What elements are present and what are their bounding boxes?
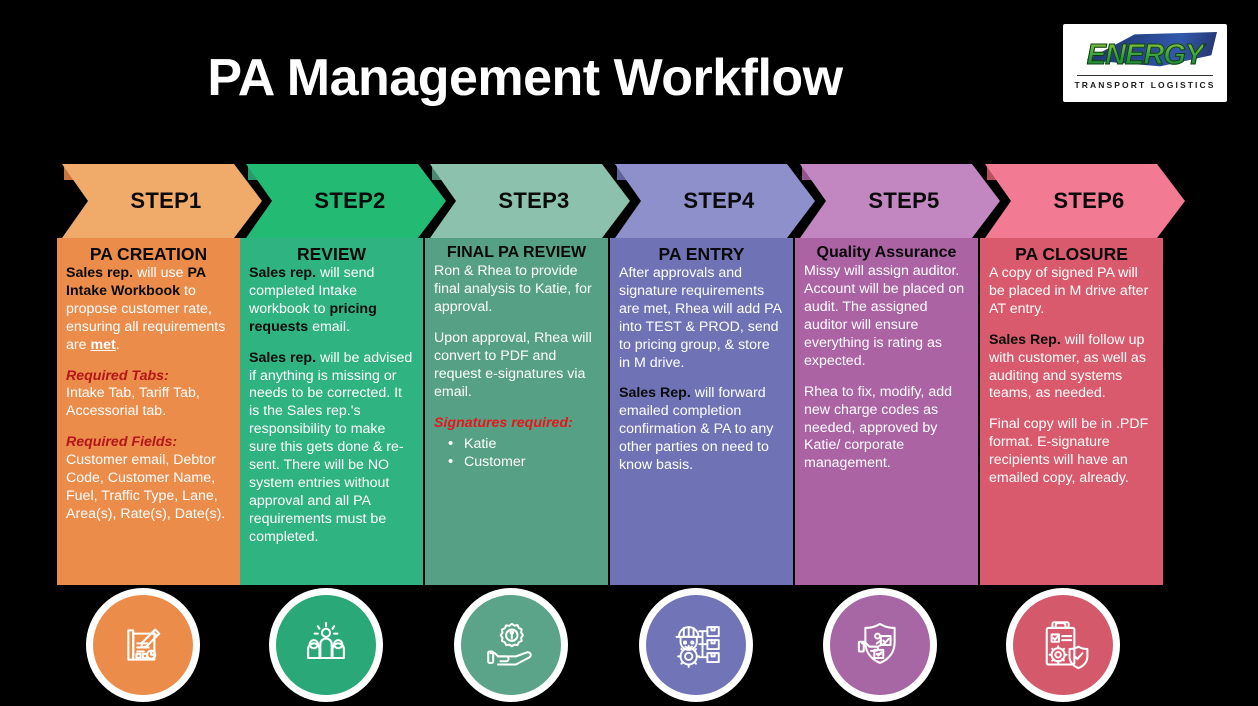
step-body-text: A copy of signed PA will be placed in M … — [989, 265, 1154, 488]
paragraph: Sales Rep. will follow up with customer,… — [989, 332, 1154, 404]
clipboard-gear-shield-icon — [1013, 595, 1113, 695]
step-icon-badge-6 — [1006, 588, 1120, 702]
text-run: Sales rep. — [66, 265, 133, 281]
paragraph: Rhea to fix, modify, add new charge code… — [804, 384, 969, 473]
hand-gear-person-icon — [461, 595, 561, 695]
step-chevron-6[interactable]: STEP6 — [985, 164, 1185, 238]
text-run: Sales Rep. — [989, 332, 1061, 348]
step-panel-1: PA CREATIONSales rep. will use PA Intake… — [57, 238, 240, 585]
text-run: Sales Rep. — [619, 385, 691, 401]
step-title: PA CREATION — [66, 244, 231, 264]
paragraph: Intake Tab, Tariff Tab, Accessorial tab. — [66, 385, 231, 421]
workflow-canvas: PA Management Workflow ENERGY TRANSPORT … — [0, 0, 1258, 706]
paragraph: Final copy will be in .PDF format. E-sig… — [989, 416, 1154, 488]
step-icon-badge-4 — [639, 588, 753, 702]
document-pen-icon — [93, 595, 193, 695]
logo-divider — [1077, 75, 1213, 76]
paragraph: Sales Rep. will forward emailed completi… — [619, 385, 784, 474]
step-icon-badge-2 — [269, 588, 383, 702]
step-chevron-label: STEP1 — [130, 188, 201, 214]
step-body-text: After approvals and signature requiremen… — [619, 265, 784, 475]
paragraph: Sales rep. will use PA Intake Workbook t… — [66, 265, 231, 354]
step-chevron-3[interactable]: STEP3 — [430, 164, 630, 238]
paragraph: Sales rep. will be advised if anything i… — [249, 350, 414, 547]
step-body-text: Sales rep. will use PA Intake Workbook t… — [66, 265, 231, 524]
step-chevron-1[interactable]: STEP1 — [62, 164, 262, 238]
step-title: FINAL PA REVIEW — [434, 244, 599, 262]
people-group-icon — [276, 595, 376, 695]
step-title: REVIEW — [249, 244, 414, 264]
step-title: PA ENTRY — [619, 244, 784, 264]
step-chevron-label: STEP6 — [1053, 188, 1124, 214]
text-run: met — [90, 337, 115, 353]
step-body-text: Missy will assign auditor. Account will … — [804, 263, 969, 473]
text-run: Sales rep. — [249, 265, 316, 281]
step-title: PA CLOSURE — [989, 244, 1154, 264]
paragraph: Missy will assign auditor. Account will … — [804, 263, 969, 370]
text-run: email. — [308, 319, 350, 335]
step-body-text: Ron & Rhea to provide final analysis to … — [434, 263, 599, 471]
step-chevron-5[interactable]: STEP5 — [800, 164, 1000, 238]
step-chevron-label: STEP2 — [314, 188, 385, 214]
step-chevron-label: STEP5 — [868, 188, 939, 214]
red-subheading: Required Tabs: — [66, 368, 231, 386]
signature-list: KatieCustomer — [434, 435, 599, 472]
step-icon-badge-3 — [454, 588, 568, 702]
step-panel-2: REVIEWSales rep. will send completed Int… — [240, 238, 423, 585]
shield-check-hand-icon — [830, 595, 930, 695]
text-run: Sales rep. — [249, 350, 316, 366]
step-panel-5: Quality AssuranceMissy will assign audit… — [795, 238, 978, 585]
step-chevron-label: STEP4 — [683, 188, 754, 214]
step-icon-badge-5 — [823, 588, 937, 702]
step-panel-4: PA ENTRYAfter approvals and signature re… — [610, 238, 793, 585]
paragraph: A copy of signed PA will be placed in M … — [989, 265, 1154, 319]
list-item: Customer — [434, 453, 599, 471]
text-run: will be advised if anything is missing o… — [249, 350, 412, 545]
paragraph: Ron & Rhea to provide final analysis to … — [434, 263, 599, 317]
paragraph: Customer email, Debtor Code, Customer Na… — [66, 452, 231, 524]
step-panel-6: PA CLOSUREA copy of signed PA will be pl… — [980, 238, 1163, 585]
text-run: will use — [133, 265, 187, 281]
step-chevron-2[interactable]: STEP2 — [246, 164, 446, 238]
paragraph: Upon approval, Rhea will convert to PDF … — [434, 330, 599, 402]
paragraph: Sales rep. will send completed Intake wo… — [249, 265, 414, 337]
workflow-steps: STEP1PA CREATIONSales rep. will use PA I… — [0, 0, 1258, 706]
worker-boxes-icon — [646, 595, 746, 695]
step-body-text: Sales rep. will send completed Intake wo… — [249, 265, 414, 546]
list-item: Katie — [434, 435, 599, 453]
paragraph: After approvals and signature requiremen… — [619, 265, 784, 372]
red-subheading: Signatures required: — [434, 415, 599, 433]
step-chevron-label: STEP3 — [498, 188, 569, 214]
step-chevron-4[interactable]: STEP4 — [615, 164, 815, 238]
text-run: . — [116, 337, 120, 353]
logo-wordmark: ENERGY — [1087, 41, 1203, 70]
step-icon-badge-1 — [86, 588, 200, 702]
logo-subtitle: TRANSPORT LOGISTICS — [1075, 80, 1216, 90]
step-title: Quality Assurance — [804, 244, 969, 262]
red-subheading: Required Fields: — [66, 434, 231, 452]
step-panel-3: FINAL PA REVIEWRon & Rhea to provide fin… — [425, 238, 608, 585]
